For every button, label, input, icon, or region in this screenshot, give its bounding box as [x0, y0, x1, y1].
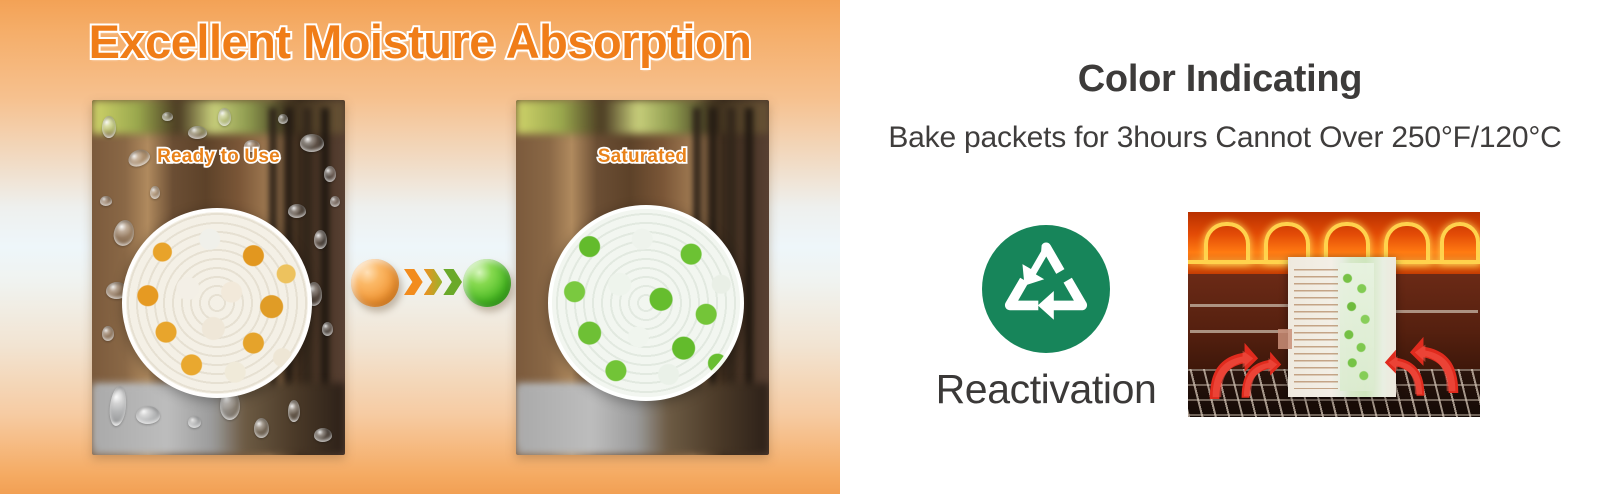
- chevron-right-icon: [424, 269, 443, 295]
- oven-reactivation-image: [1188, 212, 1480, 417]
- green-bead-sphere: [463, 259, 511, 307]
- color-change-indicator: [347, 253, 515, 325]
- reactivation-label: Reactivation: [898, 366, 1194, 413]
- card-badge-ready: Ready to Use: [92, 146, 345, 168]
- color-indicating-panel: Color Indicating Bake packets for 3hours…: [840, 0, 1600, 494]
- page-title: Excellent Moisture Absorption: [0, 14, 840, 69]
- saturated-card: Saturated: [516, 100, 769, 455]
- green-bead-closeup: [548, 205, 744, 401]
- recycle-icon-wrap: [898, 225, 1194, 358]
- packet-green-beads: [1340, 263, 1374, 391]
- section-title: Color Indicating: [840, 58, 1600, 101]
- orange-bead-sphere: [351, 259, 399, 307]
- reactivation-block: Reactivation: [898, 225, 1194, 413]
- packet-instructions-text: [1294, 269, 1338, 389]
- packet-tab: [1278, 329, 1292, 349]
- recycle-icon: [982, 225, 1110, 353]
- section-subtitle: Bake packets for 3hours Cannot Over 250°…: [880, 118, 1570, 158]
- desiccant-packet: [1288, 257, 1396, 397]
- heat-arrow-icon: [1235, 349, 1283, 400]
- transition-arrows: [404, 267, 462, 297]
- chevron-right-icon: [443, 269, 462, 295]
- promo-banner: Excellent Moisture Absorption: [0, 0, 1600, 494]
- ready-to-use-card: Ready to Use: [92, 100, 345, 455]
- orange-bead-closeup: [122, 208, 312, 398]
- heat-arrow-icon: [1383, 347, 1431, 398]
- card-badge-saturated: Saturated: [516, 146, 769, 168]
- moisture-absorption-panel: Excellent Moisture Absorption: [0, 0, 840, 494]
- chevron-right-icon: [404, 269, 423, 295]
